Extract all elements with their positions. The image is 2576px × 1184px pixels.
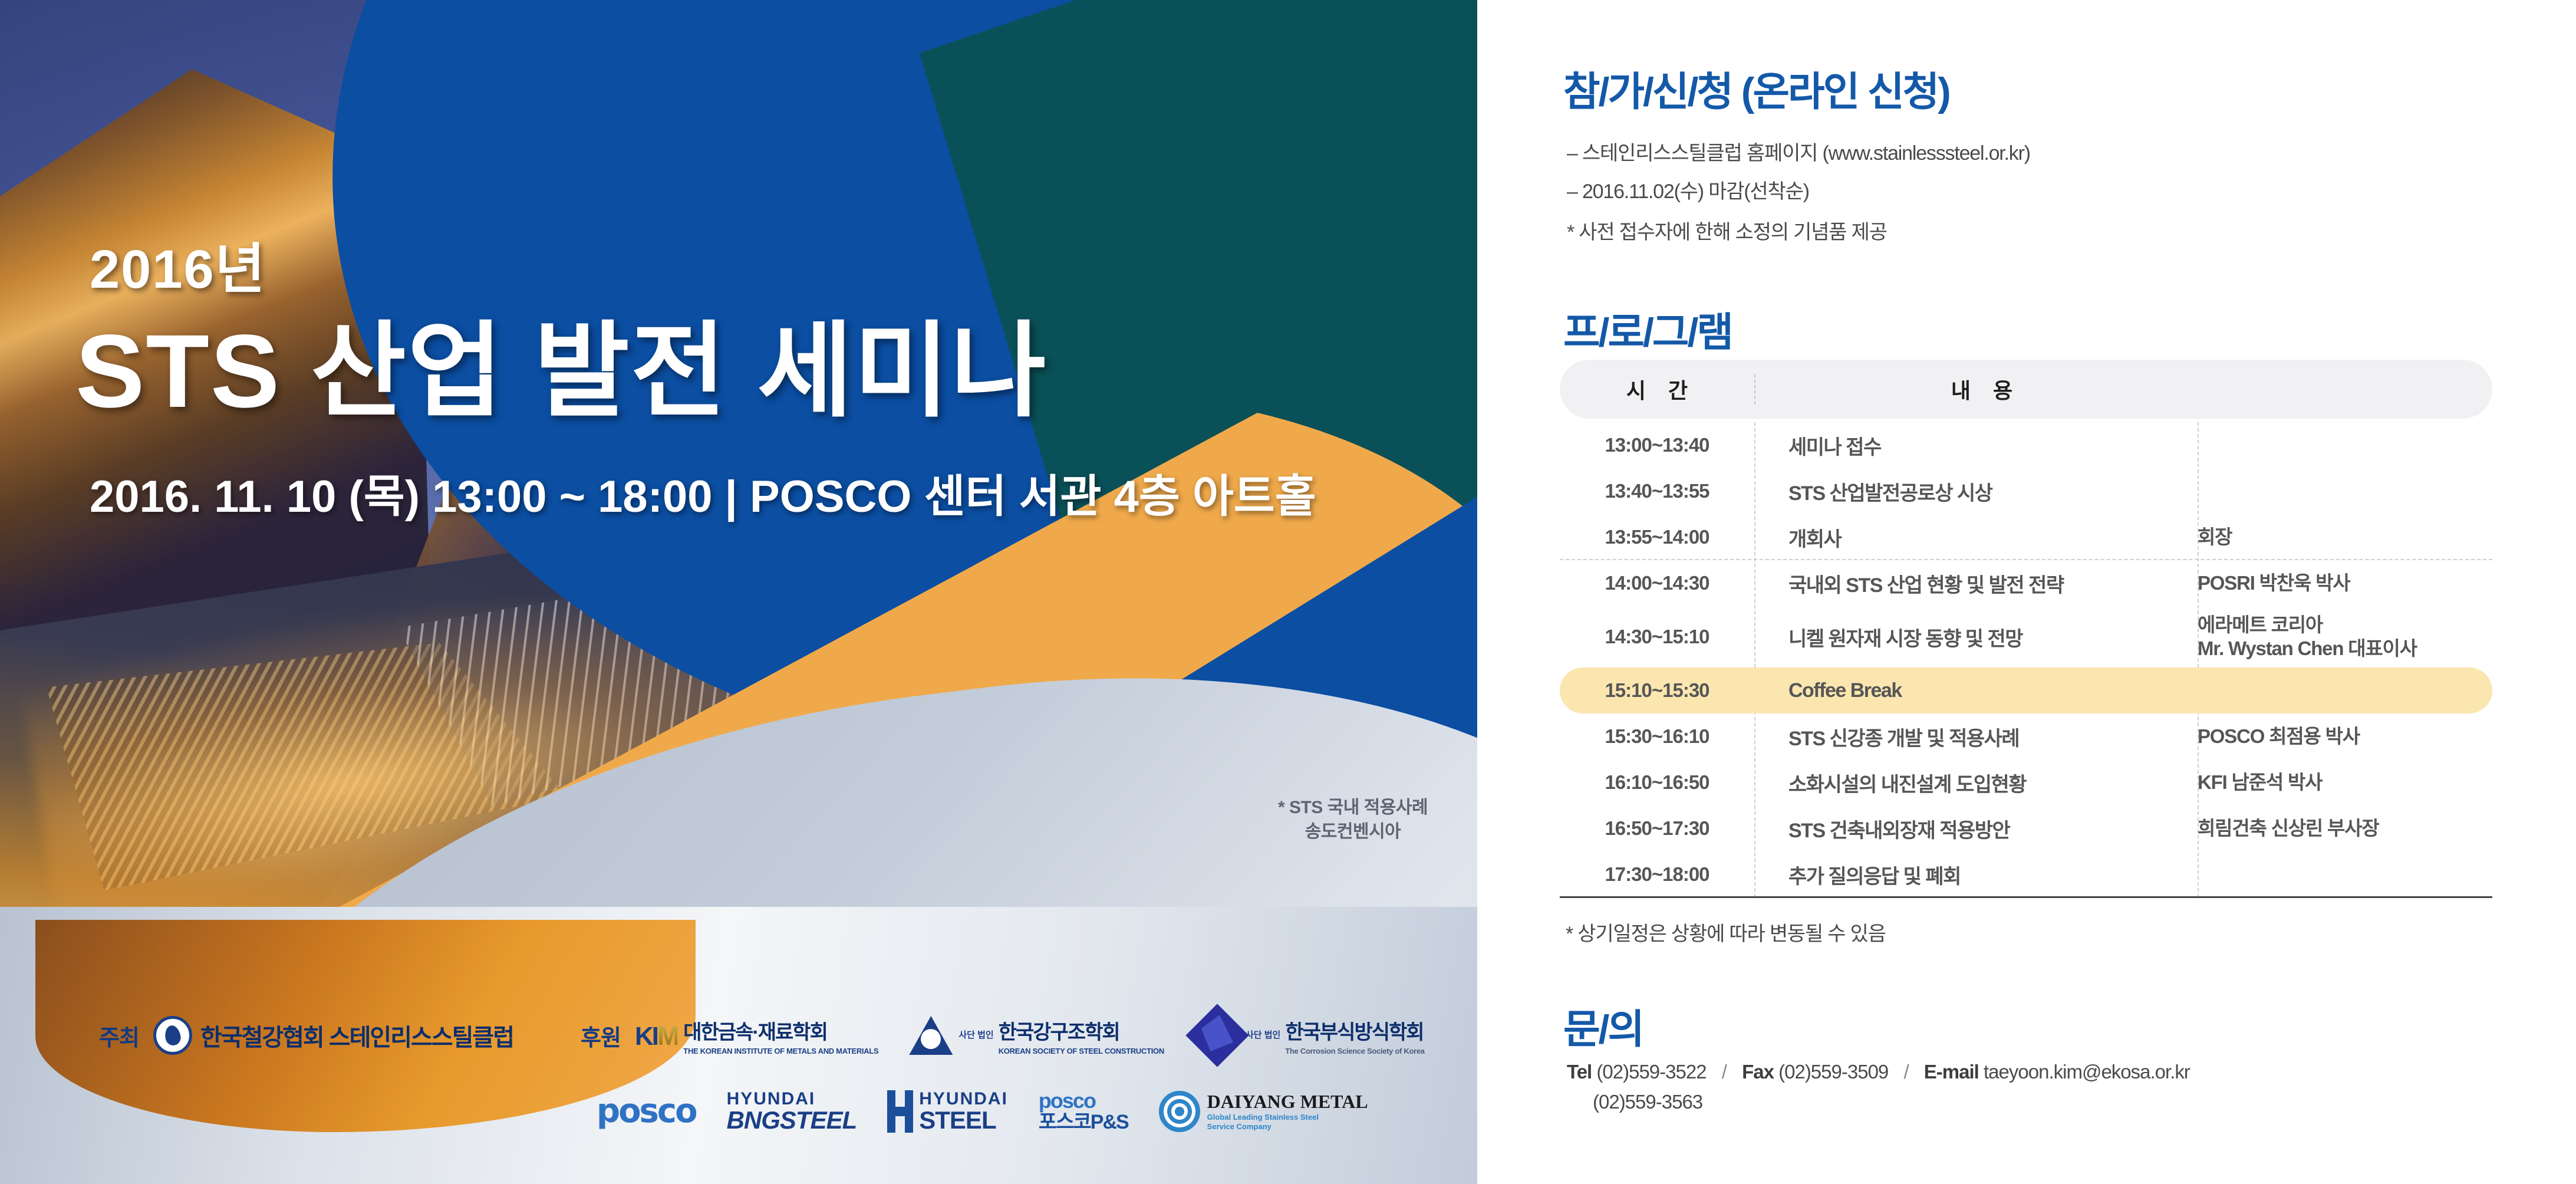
program-row: 14:30~15:10니켈 원자재 시장 동향 및 전망에라메트 코리아 Mr.… xyxy=(1560,606,2492,667)
contact-separator-1: / xyxy=(1711,1061,1737,1083)
program-row-content: 세미나 접수 xyxy=(1754,431,2198,460)
posco-pns-logo-icon: posco 포스코P&S xyxy=(1039,1090,1128,1133)
program-row-time: 13:55~14:00 xyxy=(1560,526,1754,548)
posco-pns-top: posco xyxy=(1039,1090,1128,1112)
apply-section-heading: 참/가/신/청 (온라인 신청) xyxy=(1563,59,1949,117)
poster-visual-panel: 2016년 STS 산업 발전 세미나 2016. 11. 10 (목) 13:… xyxy=(0,0,1477,1184)
program-row-speaker: POSRI 박찬욱 박사 xyxy=(2198,571,2492,595)
host-label: 주최 xyxy=(99,1019,139,1052)
program-row-time: 13:40~13:55 xyxy=(1560,480,1754,502)
program-row-content: 개회사 xyxy=(1754,523,2198,552)
kosa-seal-icon xyxy=(153,1016,192,1055)
program-row: 17:30~18:00추가 질의응답 및 폐회 xyxy=(1560,851,2492,897)
photo-credit-line-2: 송도컨벤시아 xyxy=(1256,820,1450,844)
program-row-speaker: KFI 남준석 박사 xyxy=(2198,771,2492,794)
program-row-speaker: 회장 xyxy=(2198,525,2492,549)
supporter-english-kim: THE KOREAN INSTITUTE OF METALS AND MATER… xyxy=(683,1047,878,1055)
daiyang-name: DAIYANG METAL xyxy=(1207,1091,1368,1113)
bng-steel-logo-icon: HYUNDAI BNGSTEEL xyxy=(727,1090,857,1133)
apply-note: * 사전 접수자에 한해 소정의 기념품 제공 xyxy=(1567,216,1887,245)
support-label: 후원 xyxy=(581,1019,621,1052)
program-row-time: 16:10~16:50 xyxy=(1560,771,1754,794)
host-logo-item: 한국철강협회 스테인리스스틸클럽 xyxy=(153,1016,513,1055)
kssc-logo-icon xyxy=(909,1016,953,1055)
program-row-time: 14:00~14:30 xyxy=(1560,572,1754,594)
program-row-content: STS 건축내외장재 적용방안 xyxy=(1754,814,2198,843)
kim-logo-icon: KIM xyxy=(635,1019,677,1051)
program-row-content: 추가 질의응답 및 폐회 xyxy=(1754,860,2198,889)
contact-line-primary: Tel (02)559-3522 / Fax (02)559-3509 / E-… xyxy=(1567,1057,2190,1087)
supporter-english-kssc: KOREAN SOCIETY OF STEEL CONSTRUCTION xyxy=(999,1047,1164,1055)
program-row-speaker: 희림건축 신상린 부사장 xyxy=(2198,817,2492,840)
sponsor-row-companies: posco HYUNDAI BNGSTEEL HYUNDAI STEEL pos… xyxy=(597,1090,1399,1133)
company-item-daiyang-metal: DAIYANG METAL Global Leading Stainless S… xyxy=(1159,1091,1368,1132)
hyundai-steel-h-icon xyxy=(887,1090,913,1133)
company-item-hyundai-steel: HYUNDAI STEEL xyxy=(887,1090,1008,1133)
program-row-content: 국내외 STS 산업 현황 및 발전 전략 xyxy=(1754,569,2198,598)
program-table-header: 시 간 내 용 xyxy=(1560,360,2492,419)
hyundai-steel-logo-icon: HYUNDAI STEEL xyxy=(919,1090,1008,1133)
program-row-content: 소화시설의 내진설계 도입현황 xyxy=(1754,768,2198,797)
program-row: 13:40~13:55STS 산업발전공로상 시상 xyxy=(1560,468,2492,514)
hyundai-steel-bottom: STEEL xyxy=(919,1108,1008,1133)
program-row-content: 니켈 원자재 시장 동향 및 전망 xyxy=(1754,623,2198,652)
supporter-item-kim: KIM 대한금속·재료학회 THE KOREAN INSTITUTE OF ME… xyxy=(635,1016,878,1055)
bng-steel-top: HYUNDAI xyxy=(727,1090,857,1108)
program-row-time: 14:30~15:10 xyxy=(1560,626,1754,648)
fax-value: (02)559-3509 xyxy=(1778,1061,1888,1083)
column-header-time: 시 간 xyxy=(1560,374,1754,404)
seminar-poster: 2016년 STS 산업 발전 세미나 2016. 11. 10 (목) 13:… xyxy=(0,0,2576,1184)
email-label: E-mail xyxy=(1924,1061,1979,1083)
tel-value: (02)559-3522 xyxy=(1596,1061,1706,1083)
program-row-time: 15:10~15:30 xyxy=(1560,679,1754,702)
program-row: 15:10~15:30Coffee Break xyxy=(1560,667,2492,713)
sponsor-row-organizers: 주최 한국철강협회 스테인리스스틸클럽 후원 KIM 대한금속·재료학회 THE… xyxy=(99,1013,1455,1058)
poster-info-panel: 참/가/신/청 (온라인 신청) – 스테인리스스틸클럽 홈페이지 (www.s… xyxy=(1477,0,2576,1184)
posco-pns-bottom: 포스코P&S xyxy=(1039,1112,1128,1133)
supporter-name-kssc: 한국강구조학회 xyxy=(999,1016,1164,1045)
daiyang-target-icon xyxy=(1159,1091,1200,1132)
program-row-time: 13:00~13:40 xyxy=(1560,434,1754,456)
supporter-prefix-csk: 사단 법인 xyxy=(1246,1031,1280,1040)
program-row: 16:10~16:50소화시설의 내진설계 도입현황KFI 남준석 박사 xyxy=(1560,759,2492,805)
program-row-speaker: 에라메트 코리아 Mr. Wystan Chen 대표이사 xyxy=(2198,613,2492,661)
photo-credit-caption: * STS 국내 적용사례 송도컨벤시아 xyxy=(1256,796,1450,844)
program-table-bottom-rule xyxy=(1560,896,2492,898)
program-row: 14:00~14:30국내외 STS 산업 현황 및 발전 전략POSRI 박찬… xyxy=(1560,560,2492,606)
apply-bullet-website: – 스테인리스스틸클럽 홈페이지 (www.stainlesssteel.or.… xyxy=(1567,137,2030,166)
apply-bullet-deadline: – 2016.11.02(수) 마감(선착순) xyxy=(1567,175,2030,204)
program-row-speaker: POSCO 최점용 박사 xyxy=(2198,725,2492,748)
program-row-time: 16:50~17:30 xyxy=(1560,817,1754,840)
program-row-time: 17:30~18:00 xyxy=(1560,863,1754,886)
program-row-time: 15:30~16:10 xyxy=(1560,725,1754,748)
program-table-body: 13:00~13:40세미나 접수13:40~13:55STS 산업발전공로상 … xyxy=(1560,422,2492,897)
host-name: 한국철강협회 스테인리스스틸클럽 xyxy=(200,1018,513,1053)
program-row-content: Coffee Break xyxy=(1754,679,2198,702)
contact-section-heading: 문/의 xyxy=(1563,996,1643,1055)
program-table: 시 간 내 용 13:00~13:40세미나 접수13:40~13:55STS … xyxy=(1560,360,2492,897)
hero-title: STS 산업 발전 세미나 xyxy=(75,287,1047,437)
company-item-bng-steel: HYUNDAI BNGSTEEL xyxy=(727,1090,857,1133)
daiyang-tagline: Global Leading Stainless Steel Service C… xyxy=(1207,1113,1368,1132)
program-row-content: STS 산업발전공로상 시상 xyxy=(1754,477,2198,506)
program-row: 13:55~14:00개회사회장 xyxy=(1560,514,2492,560)
contact-details: Tel (02)559-3522 / Fax (02)559-3509 / E-… xyxy=(1567,1057,2190,1117)
csk-logo-icon xyxy=(1185,1004,1249,1067)
supporter-item-kssc: 사단 법인 한국강구조학회 KOREAN SOCIETY OF STEEL CO… xyxy=(909,1016,1164,1055)
photo-credit-line-1: * STS 국내 적용사례 xyxy=(1256,796,1450,820)
supporter-name-csk: 한국부식방식학회 xyxy=(1285,1016,1424,1045)
email-value[interactable]: taeyoon.kim@ekosa.or.kr xyxy=(1984,1061,2190,1083)
header-column-divider xyxy=(1754,374,1755,404)
posco-logo-icon: posco xyxy=(597,1092,696,1130)
hyundai-steel-top: HYUNDAI xyxy=(919,1090,1008,1108)
program-section-heading: 프/로/그/램 xyxy=(1563,300,1732,358)
fax-label: Fax xyxy=(1742,1061,1774,1083)
hero-subtitle: 2016. 11. 10 (목) 13:00 ~ 18:00 | POSCO 센… xyxy=(90,460,1316,525)
company-item-posco-pns: posco 포스코P&S xyxy=(1039,1090,1128,1133)
supporter-name-kim: 대한금속·재료학회 xyxy=(683,1016,878,1045)
supporter-prefix-kssc: 사단 법인 xyxy=(958,1031,993,1040)
tel-label: Tel xyxy=(1567,1061,1592,1083)
contact-line-secondary: (02)559-3563 xyxy=(1567,1087,2190,1117)
contact-separator-2: / xyxy=(1893,1061,1919,1083)
program-row-content: STS 신강종 개발 및 적용사례 xyxy=(1754,722,2198,751)
column-header-content: 내 용 xyxy=(1754,374,2492,404)
tel-secondary-value: (02)559-3563 xyxy=(1593,1091,1702,1113)
company-item-posco: posco xyxy=(597,1092,696,1130)
supporter-english-csk: The Corrosion Science Society of Korea xyxy=(1285,1047,1424,1055)
bng-steel-bottom: BNGSTEEL xyxy=(727,1108,857,1133)
program-row: 15:30~16:10STS 신강종 개발 및 적용사례POSCO 최점용 박사 xyxy=(1560,713,2492,759)
supporter-item-csk: 사단 법인 한국부식방식학회 The Corrosion Science Soc… xyxy=(1195,1013,1425,1058)
apply-bullet-list: – 스테인리스스틸클럽 홈페이지 (www.stainlesssteel.or.… xyxy=(1567,137,2030,213)
program-row: 16:50~17:30STS 건축내외장재 적용방안희림건축 신상린 부사장 xyxy=(1560,805,2492,851)
program-footnote: * 상기일정은 상황에 따라 변동될 수 있음 xyxy=(1566,917,1886,946)
program-row: 13:00~13:40세미나 접수 xyxy=(1560,422,2492,468)
